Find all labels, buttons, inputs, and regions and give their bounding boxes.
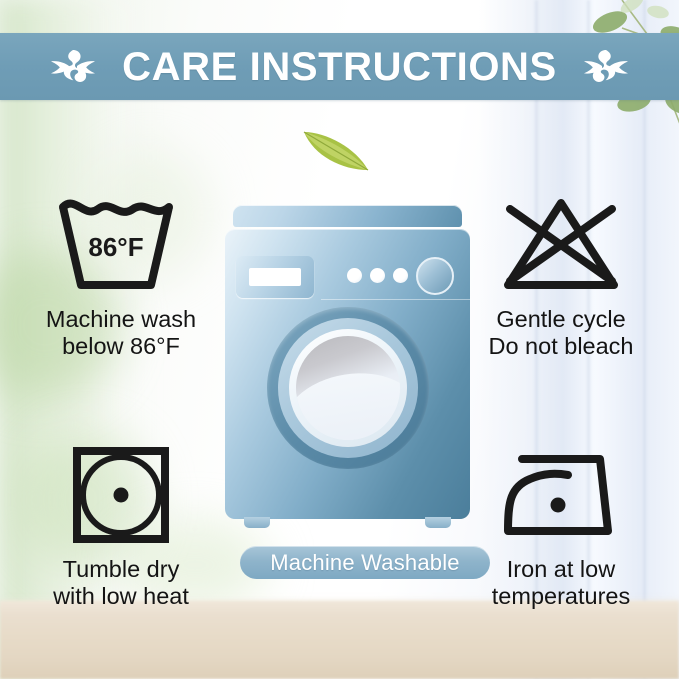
detergent-drawer [236, 256, 314, 298]
tumble-dry-low-icon-wrap [6, 440, 236, 550]
machine-foot-left [244, 517, 270, 528]
control-button-1 [347, 268, 362, 283]
machine-lid [233, 205, 462, 227]
wash-tub-icon: 86°F [51, 193, 191, 297]
machine-door-glass-highlight [296, 364, 400, 440]
machine-door-ring-outer [278, 318, 418, 458]
control-button-2 [370, 268, 385, 283]
care-symbol-iron-caption: Iron at low temperatures [446, 556, 676, 611]
wash-tub-icon-wrap: 86°F [6, 190, 236, 300]
fleur-de-lis-icon-right [575, 44, 637, 90]
washing-machine-illustration [225, 205, 470, 540]
fleur-de-lis-icon-left [42, 44, 104, 90]
iron-low-heat-icon-wrap [446, 440, 676, 550]
floating-leaf-icon [298, 122, 374, 176]
page-title: CARE INSTRUCTIONS [122, 47, 557, 87]
triangle-crossed-icon [496, 193, 626, 297]
care-instructions-infographic: CARE INSTRUCTIONS [0, 0, 679, 679]
care-symbol-tumble-dry-caption: Tumble dry with low heat [6, 556, 236, 611]
care-symbol-tumble-dry: Tumble dry with low heat [6, 440, 236, 611]
care-symbol-do-not-bleach: Gentle cycle Do not bleach [446, 190, 676, 361]
header-banner: CARE INSTRUCTIONS [0, 33, 679, 100]
detergent-drawer-slot [249, 268, 301, 286]
machine-door-glass [296, 336, 400, 440]
machine-door [267, 307, 429, 469]
table-surface [0, 601, 679, 679]
machine-door-ring-inner [289, 329, 407, 447]
machine-washable-badge-label: Machine Washable [270, 550, 459, 576]
iron-low-heat-icon [496, 443, 626, 547]
care-symbol-iron: Iron at low temperatures [446, 440, 676, 611]
wash-temperature-value: 86°F [88, 232, 143, 262]
triangle-crossed-icon-wrap [446, 190, 676, 300]
tumble-dry-low-icon [69, 443, 173, 547]
care-symbol-machine-wash: 86°F Machine wash below 86°F [6, 190, 236, 361]
care-symbol-do-not-bleach-caption: Gentle cycle Do not bleach [446, 306, 676, 361]
control-button-3 [393, 268, 408, 283]
care-symbol-machine-wash-caption: Machine wash below 86°F [6, 306, 236, 361]
machine-body [225, 229, 470, 519]
